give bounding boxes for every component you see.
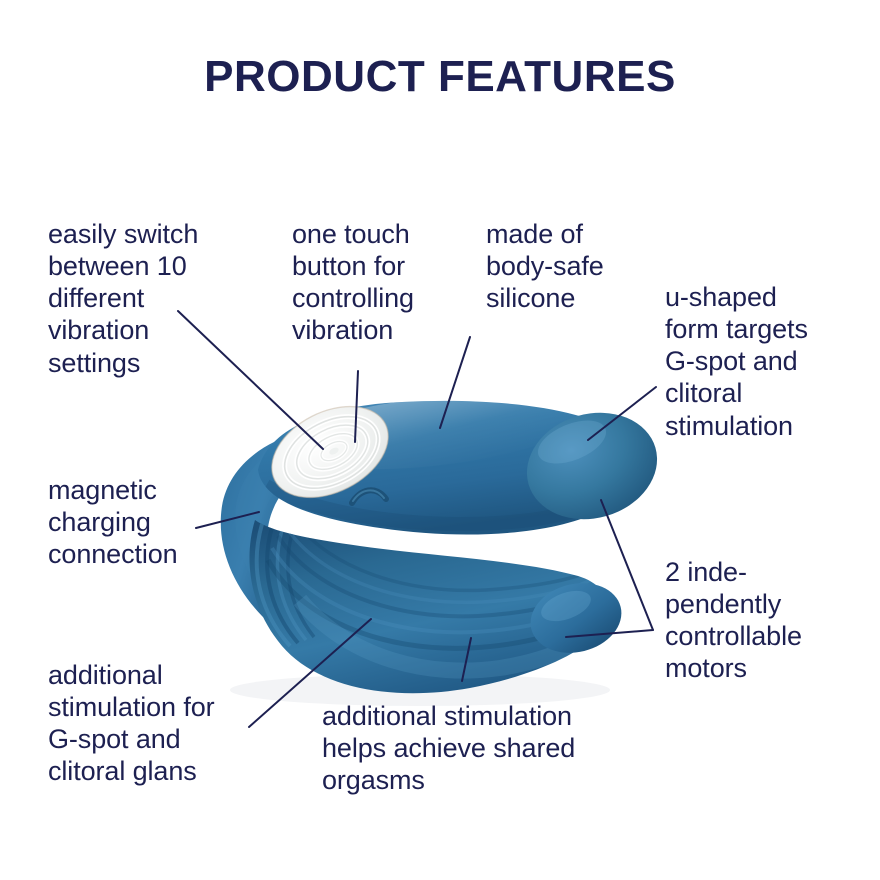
feature-line: additional xyxy=(48,659,215,691)
feature-line: connection xyxy=(48,538,178,570)
feature-line: button for xyxy=(292,250,414,282)
feature-line: vibration xyxy=(292,314,414,346)
feature-line: between 10 xyxy=(48,250,198,282)
feature-line: silicone xyxy=(486,282,604,314)
feature-line: controlling xyxy=(292,282,414,314)
feature-line: G-spot and xyxy=(48,723,215,755)
product-ribbed-arm xyxy=(244,520,629,693)
feature-line: helps achieve shared xyxy=(322,732,575,764)
feature-line: form targets xyxy=(665,313,808,345)
feature-line: body-safe xyxy=(486,250,604,282)
product-features-infographic: PRODUCT FEATURES xyxy=(0,0,880,880)
feature-line: clitoral xyxy=(665,377,808,409)
feature-line: clitoral glans xyxy=(48,755,215,787)
feature-line: controllable xyxy=(665,620,802,652)
feature-label-two-motors: 2 inde- pendently controllable motors xyxy=(665,556,802,685)
feature-label-u-shaped-form: u-shaped form targets G-spot and clitora… xyxy=(665,281,808,442)
feature-label-vibration-settings: easily switch between 10 different vibra… xyxy=(48,218,198,379)
feature-line: orgasms xyxy=(322,764,575,796)
feature-line: easily switch xyxy=(48,218,198,250)
feature-line: additional stimulation xyxy=(322,700,575,732)
feature-line: 2 inde- xyxy=(665,556,802,588)
feature-line: stimulation for xyxy=(48,691,215,723)
feature-line: u-shaped xyxy=(665,281,808,313)
feature-label-magnetic-charging: magnetic charging connection xyxy=(48,474,178,570)
feature-line: vibration xyxy=(48,314,198,346)
feature-line: different xyxy=(48,282,198,314)
feature-label-body-safe-silicone: made of body-safe silicone xyxy=(486,218,604,314)
feature-label-additional-gspot: additional stimulation for G-spot and cl… xyxy=(48,659,215,788)
feature-line: pendently xyxy=(665,588,802,620)
feature-line: charging xyxy=(48,506,178,538)
feature-line: motors xyxy=(665,652,802,684)
feature-label-shared-orgasms: additional stimulation helps achieve sha… xyxy=(322,700,575,796)
feature-label-one-touch-button: one touch button for controlling vibrati… xyxy=(292,218,414,347)
feature-line: settings xyxy=(48,347,198,379)
feature-line: magnetic xyxy=(48,474,178,506)
feature-line: stimulation xyxy=(665,410,808,442)
feature-line: one touch xyxy=(292,218,414,250)
feature-line: G-spot and xyxy=(665,345,808,377)
feature-line: made of xyxy=(486,218,604,250)
